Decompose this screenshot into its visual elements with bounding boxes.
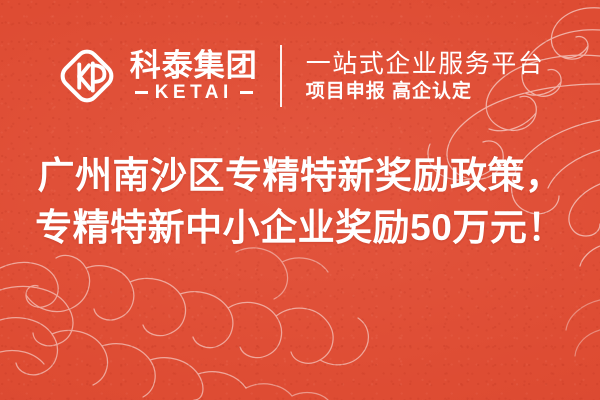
banner-header: 科泰集团 KETAI 一站式企业服务平台 项目申报 高企认定 (0, 38, 600, 114)
headline-line-1: 广州南沙区专精特新奖励政策， (0, 150, 600, 202)
dash-left-icon (135, 91, 148, 94)
slogan-block: 一站式企业服务平台 项目申报 高企认定 (282, 52, 545, 101)
ketai-diamond-monogram-icon (56, 45, 118, 107)
brand-name-en: KETAI (155, 83, 233, 102)
brand-name-en-row: KETAI (130, 83, 258, 102)
brand-wordmark: 科泰集团 KETAI (130, 50, 258, 102)
slogan-sub-text: 项目申报 高企认定 (306, 82, 545, 101)
promo-banner: 科泰集团 KETAI 一站式企业服务平台 项目申报 高企认定 广州南沙区专精特新… (0, 0, 600, 400)
dash-right-icon (240, 91, 253, 94)
slogan-main-text: 一站式企业服务平台 (306, 52, 545, 77)
headline-block: 广州南沙区专精特新奖励政策， 专精特新中小企业奖励50万元！ (0, 150, 600, 254)
brand-name-cn: 科泰集团 (130, 50, 258, 81)
brand-lockup: 科泰集团 KETAI (56, 45, 280, 107)
headline-line-2: 专精特新中小企业奖励50万元！ (0, 202, 600, 254)
